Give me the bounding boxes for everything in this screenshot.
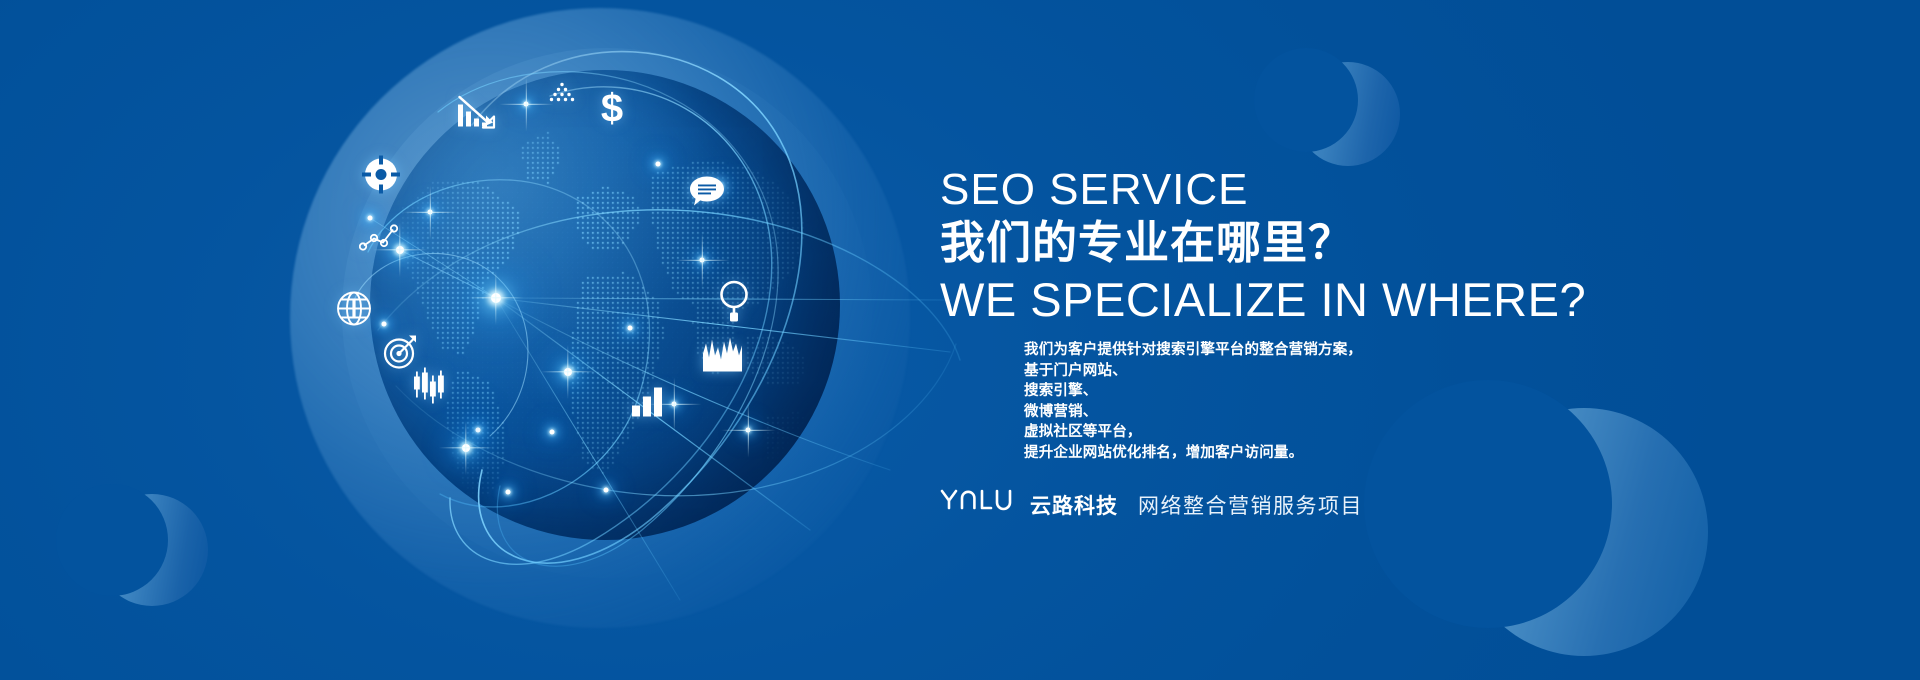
body-copy-line: 搜索引擎、	[1024, 381, 1362, 402]
body-copy-line: 微博营销、	[1024, 402, 1362, 423]
brand-tagline: 网络整合营销服务项目	[1138, 490, 1363, 520]
floating-icons: $	[250, 0, 970, 680]
bar-chart-declining-icon	[456, 95, 500, 140]
candlestick-chart-icon	[413, 368, 447, 409]
globe-graphic: $	[250, 0, 970, 680]
bar-chart-rising-icon	[631, 387, 665, 422]
chat-bubble-icon	[689, 175, 725, 214]
sphere-mask	[56, 484, 168, 596]
brand-row: 云路科技 网络整合营销服务项目	[940, 487, 1363, 520]
dot-pyramid-icon	[548, 82, 576, 111]
body-copy-line: 提升企业网站优化排名，增加客户访问量。	[1024, 443, 1362, 464]
globe-outline-icon	[335, 290, 373, 333]
yunlu-logo-icon	[940, 487, 1016, 513]
crosshair-target-icon	[362, 156, 400, 199]
seo-service-banner: $	[0, 0, 1920, 680]
magnifier-icon	[717, 280, 751, 331]
dollar-sign-icon: $	[597, 86, 627, 135]
body-copy-line: 虚拟社区等平台，	[1024, 422, 1362, 443]
brand-name-chinese: 云路科技	[1030, 490, 1118, 520]
jagged-stock-chart-icon	[701, 334, 745, 379]
node-graph-icon	[359, 224, 399, 257]
body-copy-line: 基于门户网站、	[1024, 361, 1362, 382]
headline-english-top: SEO SERVICE	[940, 168, 1249, 212]
svg-text:$: $	[601, 87, 623, 130]
headline-english-bottom: WE SPECIALIZE IN WHERE?	[940, 276, 1586, 323]
body-copy: 我们为客户提供针对搜索引擎平台的整合营销方案， 基于门户网站、 搜索引擎、 微博…	[1024, 340, 1362, 463]
headline-chinese: 我们的专业在哪里？	[940, 220, 1354, 265]
decorative-sphere-bottom-left	[96, 494, 208, 606]
sphere-disc	[96, 494, 208, 606]
copy-block: SEO SERVICE 我们的专业在哪里？ WE SPECIALIZE IN W…	[940, 0, 1780, 680]
body-copy-line: 我们为客户提供针对搜索引擎平台的整合营销方案，	[1024, 340, 1362, 361]
